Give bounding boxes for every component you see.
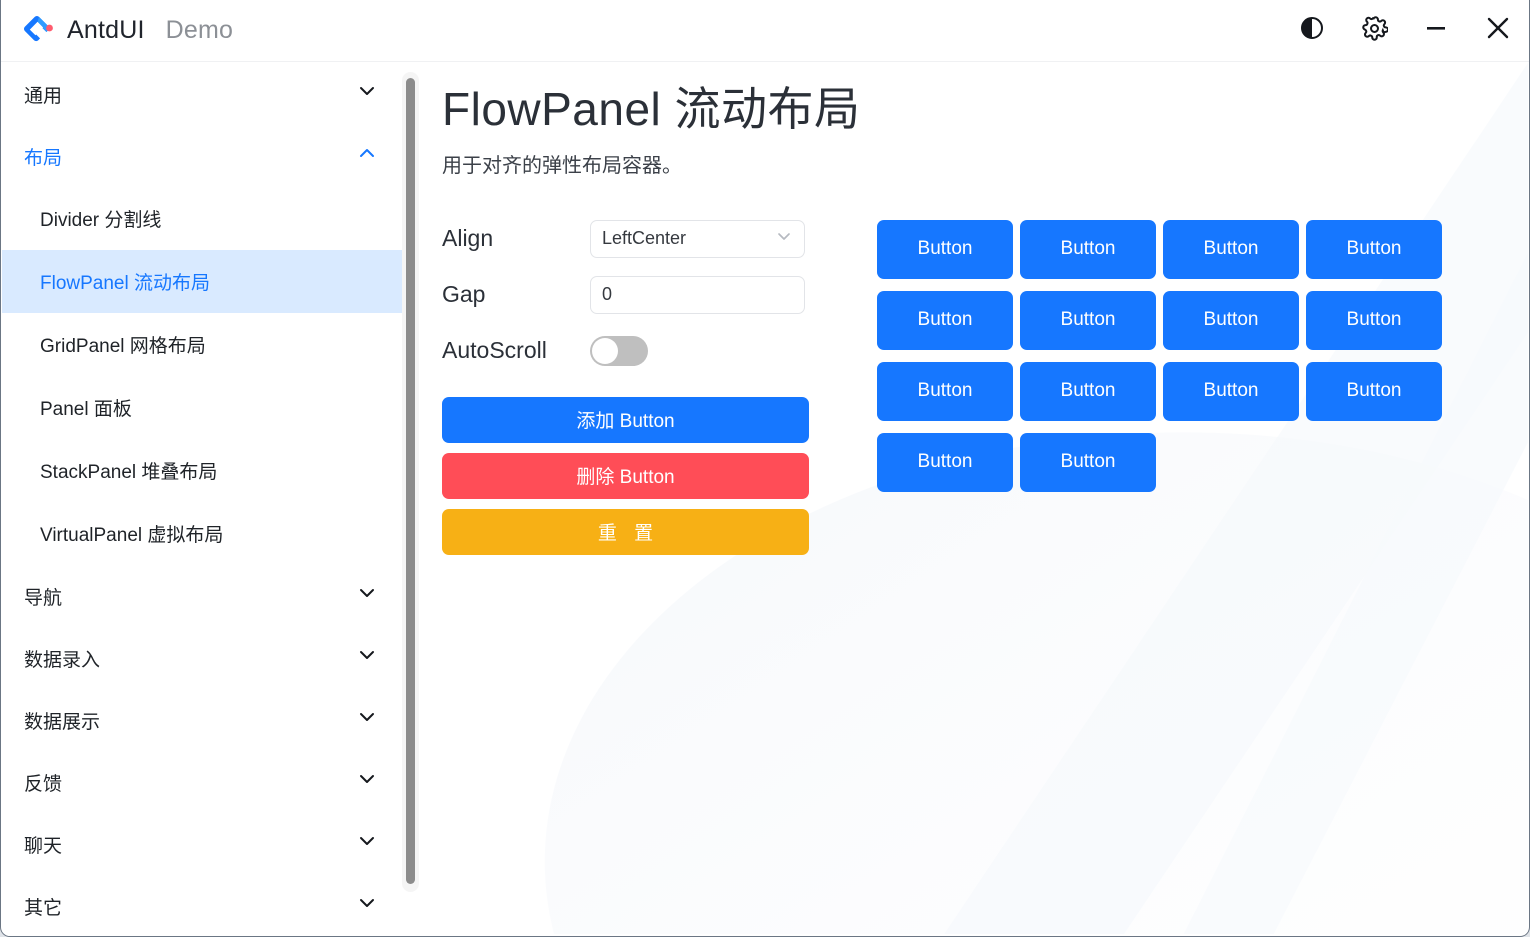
close-button[interactable] [1467,0,1529,62]
chevron-down-icon [356,768,378,796]
flow-panel-button[interactable]: Button [877,220,1013,279]
antdui-logo-icon [23,15,55,47]
theme-toggle-button[interactable] [1281,0,1343,62]
sidebar-group-label: 数据展示 [24,707,100,734]
align-select[interactable]: LeftCenter [590,220,805,258]
gap-label: Gap [442,281,590,308]
sidebar-item-flowpanel[interactable]: FlowPanel 流动布局 [2,250,406,313]
gap-input-value: 0 [602,284,612,305]
align-row: Align LeftCenter [442,211,812,267]
sidebar-group-chat[interactable]: 聊天 [2,813,406,875]
controls-column: Align LeftCenter Gap 0 [442,211,812,555]
sidebar: 通用 布局 Divider 分割线 FlowPanel 流动布局 GridPan… [2,63,406,936]
sidebar-item-panel[interactable]: Panel 面板 [2,376,406,439]
add-button[interactable]: 添加 Button [442,397,809,443]
flow-panel: ButtonButtonButtonButtonButtonButtonButt… [877,211,1457,555]
app-title: AntdUI [67,16,145,45]
window-controls [1281,0,1529,61]
align-label: Align [442,225,590,252]
flow-panel-button[interactable]: Button [1306,291,1442,350]
autoscroll-row: AutoScroll [442,323,812,379]
sidebar-group-label: 通用 [24,81,62,108]
chevron-down-icon [356,80,378,108]
sidebar-group-label: 导航 [24,583,62,610]
sidebar-item-label: VirtualPanel 虚拟布局 [40,520,223,547]
sidebar-item-label: FlowPanel 流动布局 [40,268,210,295]
sidebar-group-data-display[interactable]: 数据展示 [2,689,406,751]
minimize-icon [1422,14,1450,47]
title-bar: AntdUI Demo [1,0,1529,62]
app-window: AntdUI Demo [0,0,1530,937]
chevron-down-icon [356,892,378,920]
flow-panel-button[interactable]: Button [877,291,1013,350]
sidebar-item-stackpanel[interactable]: StackPanel 堆叠布局 [2,439,406,502]
flow-panel-button[interactable]: Button [1306,220,1442,279]
main-content: FlowPanel 流动布局 用于对齐的弹性布局容器。 Align LeftCe… [425,63,1528,935]
settings-button[interactable] [1343,0,1405,62]
flow-panel-button[interactable]: Button [1163,291,1299,350]
sidebar-scrollbar-thumb[interactable] [406,78,415,884]
autoscroll-label: AutoScroll [442,337,590,364]
sidebar-item-virtualpanel[interactable]: VirtualPanel 虚拟布局 [2,502,406,565]
app-subtitle: Demo [166,16,234,45]
sidebar-item-label: Divider 分割线 [40,205,161,232]
sidebar-item-label: GridPanel 网格布局 [40,331,206,358]
flow-panel-button[interactable]: Button [1020,433,1156,492]
sidebar-group-layout[interactable]: 布局 [2,125,406,187]
sidebar-group-other[interactable]: 其它 [2,875,406,936]
sidebar-group-navigation[interactable]: 导航 [2,565,406,627]
gap-input[interactable]: 0 [590,276,805,314]
delete-button[interactable]: 删除 Button [442,453,809,499]
close-icon [1483,13,1513,48]
align-select-value: LeftCenter [602,228,686,249]
theme-contrast-icon [1299,15,1325,46]
chevron-down-icon [356,644,378,672]
autoscroll-toggle[interactable] [590,336,648,366]
sidebar-group-label: 反馈 [24,769,62,796]
sidebar-group-label: 布局 [24,143,62,170]
sidebar-group-general[interactable]: 通用 [2,63,406,125]
brand: AntdUI Demo [23,15,233,47]
flow-panel-button[interactable]: Button [1020,291,1156,350]
gap-row: Gap 0 [442,267,812,323]
sidebar-item-gridpanel[interactable]: GridPanel 网格布局 [2,313,406,376]
sidebar-group-data-entry[interactable]: 数据录入 [2,627,406,689]
chevron-down-icon [356,830,378,858]
page-description: 用于对齐的弹性布局容器。 [442,149,1528,178]
reset-button[interactable]: 重 置 [442,509,809,555]
sidebar-item-divider[interactable]: Divider 分割线 [2,187,406,250]
sidebar-item-label: Panel 面板 [40,394,132,421]
flow-panel-button[interactable]: Button [877,362,1013,421]
chevron-up-icon [356,142,378,170]
chevron-down-icon [775,227,793,250]
flow-panel-button[interactable]: Button [1163,220,1299,279]
sidebar-group-feedback[interactable]: 反馈 [2,751,406,813]
sidebar-group-label: 数据录入 [24,645,100,672]
chevron-down-icon [356,706,378,734]
flow-panel-button[interactable]: Button [877,433,1013,492]
flow-panel-button[interactable]: Button [1020,220,1156,279]
sidebar-item-label: StackPanel 堆叠布局 [40,457,217,484]
page-title: FlowPanel 流动布局 [442,85,1528,135]
toggle-knob [592,338,618,364]
sidebar-group-label: 其它 [24,893,62,920]
chevron-down-icon [356,582,378,610]
minimize-button[interactable] [1405,0,1467,62]
flow-panel-button[interactable]: Button [1020,362,1156,421]
flow-panel-button[interactable]: Button [1163,362,1299,421]
flow-panel-button[interactable]: Button [1306,362,1442,421]
sidebar-group-label: 聊天 [24,831,62,858]
gear-icon [1361,15,1388,47]
